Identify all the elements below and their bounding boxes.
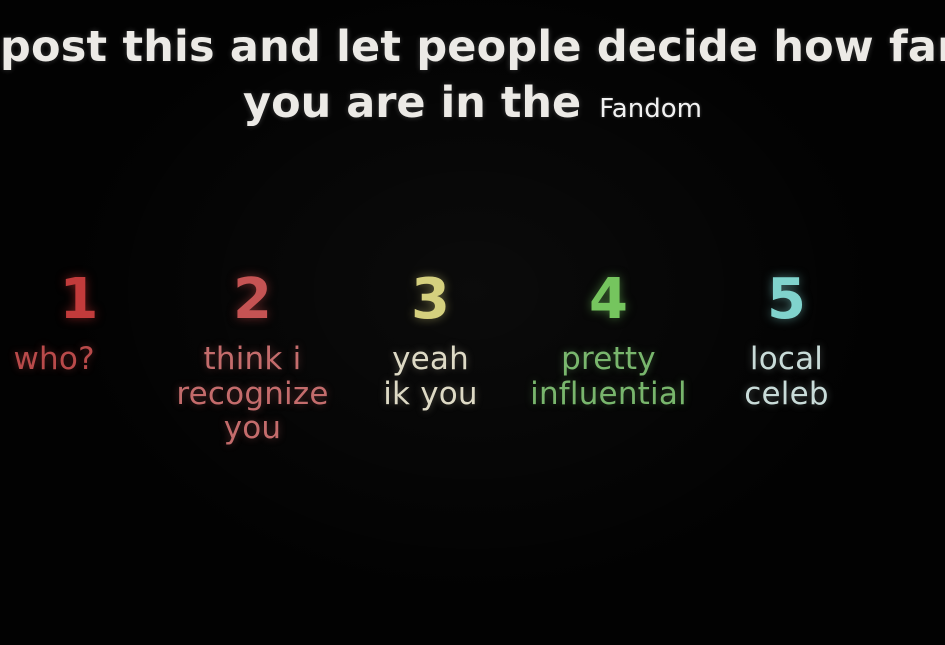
scale-item-4: 4 pretty influential (520, 272, 698, 411)
scale-number-2: 2 (164, 272, 342, 328)
scale-label-4-line-1: pretty (520, 342, 698, 377)
scale-label-2-line-1: think i (164, 342, 342, 377)
scale-number-5: 5 (698, 272, 876, 328)
scale-number-1: 1 (14, 272, 164, 328)
scale-label-2-line-2: recognize (164, 377, 342, 412)
headline-line-2: you are in the (243, 78, 581, 128)
scale-label-1-line-1: who? (14, 342, 164, 377)
scale-item-5: 5 local celeb (698, 272, 876, 411)
scale-label-3-line-1: yeah (342, 342, 520, 377)
scale-label-4-line-2: influential (520, 377, 698, 412)
scale-item-2: 2 think i recognize you (164, 272, 342, 446)
scale-label-5-line-2: celeb (698, 377, 876, 412)
fandom-tag: Fandom (599, 94, 702, 124)
rating-scale: 1 who? 2 think i recognize you 3 yeah ik… (0, 272, 945, 446)
scale-number-3: 3 (342, 272, 520, 328)
scale-number-4: 4 (520, 272, 698, 328)
meme-image: post this and let people decide how famo… (0, 0, 945, 645)
headline-line-1: post this and let people decide how famo… (0, 24, 945, 70)
scale-label-2-line-3: you (164, 411, 342, 446)
scale-label-3-line-2: ik you (342, 377, 520, 412)
scale-label-5-line-1: local (698, 342, 876, 377)
scale-item-1: 1 who? (14, 272, 164, 377)
headline: post this and let people decide how famo… (0, 24, 945, 127)
headline-line-2-wrap: you are in theFandom (0, 80, 945, 126)
scale-item-3: 3 yeah ik you (342, 272, 520, 411)
